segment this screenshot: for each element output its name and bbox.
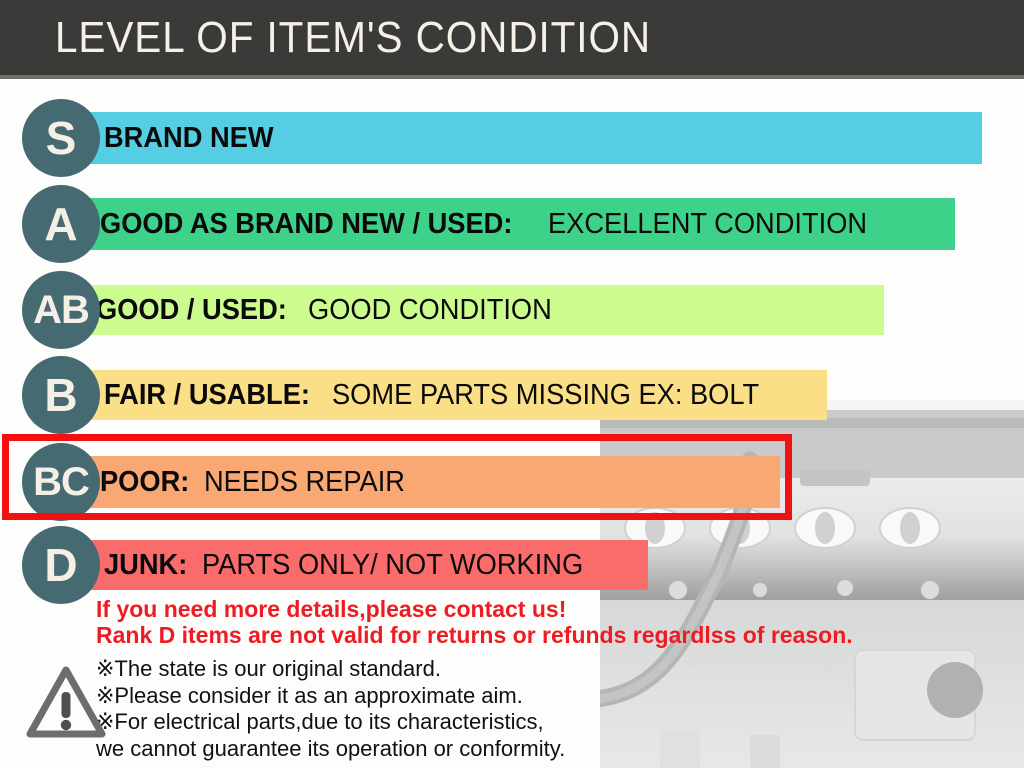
red-notes: If you need more details,please contact … [96,596,1006,648]
star-note-line: ※The state is our original standard. [96,656,1006,683]
rank-badge-letter: S [46,115,77,161]
warning-triangle-icon [26,662,106,742]
star-note-line: we cannot guarantee its operation or con… [96,736,1006,763]
rank-badge-letter: AB [33,290,89,330]
condition-grade-chart: LEVEL OF ITEM'S CONDITION BRAND NEW S GO… [0,0,1024,768]
header-underline [0,75,1024,79]
rank-badge-s: S [22,99,100,177]
header-bar: LEVEL OF ITEM'S CONDITION [0,0,1024,75]
rank-badge-ab: AB [22,271,100,349]
page-title: LEVEL OF ITEM'S CONDITION [55,13,651,63]
rank-label-rest: EXCELLENT CONDITION [548,208,867,241]
rank-label-rest: SOME PARTS MISSING EX: BOLT [332,379,759,412]
rank-badge-letter: B [44,372,77,418]
rank-label: JUNK: PARTS ONLY/ NOT WORKING [104,540,607,590]
highlight-box-bc [2,434,792,520]
rank-label: BRAND NEW [104,112,284,164]
rank-label: FAIR / USABLE: SOME PARTS MISSING EX: BO… [104,370,787,420]
rank-label-rest: GOOD CONDITION [308,294,552,327]
red-note-line: Rank D items are not valid for returns o… [96,622,1006,648]
rank-label-bold: BRAND NEW [104,122,274,155]
rank-label-rest: PARTS ONLY/ NOT WORKING [202,549,583,582]
rank-label-bold: GOOD AS BRAND NEW / USED: [100,208,512,241]
rank-badge-a: A [22,185,100,263]
star-note-line: ※For electrical parts,due to its charact… [96,709,1006,736]
rank-label-bold: FAIR / USABLE: [104,379,310,412]
rank-badge-d: D [22,526,100,604]
rank-label-bold: JUNK: [104,549,187,582]
rank-label-bold: GOOD / USED: [96,294,287,327]
rank-badge-b: B [22,356,100,434]
star-note-line: ※Please consider it as an approximate ai… [96,683,1006,710]
star-notes: ※The state is our original standard. ※Pl… [96,656,1006,762]
rank-badge-letter: A [44,201,77,247]
rank-label: GOOD / USED: GOOD CONDITION [96,285,567,335]
red-note-line: If you need more details,please contact … [96,596,1006,622]
rank-label: GOOD AS BRAND NEW / USED: EXCELLENT COND… [100,198,887,250]
rank-badge-letter: D [44,542,77,588]
